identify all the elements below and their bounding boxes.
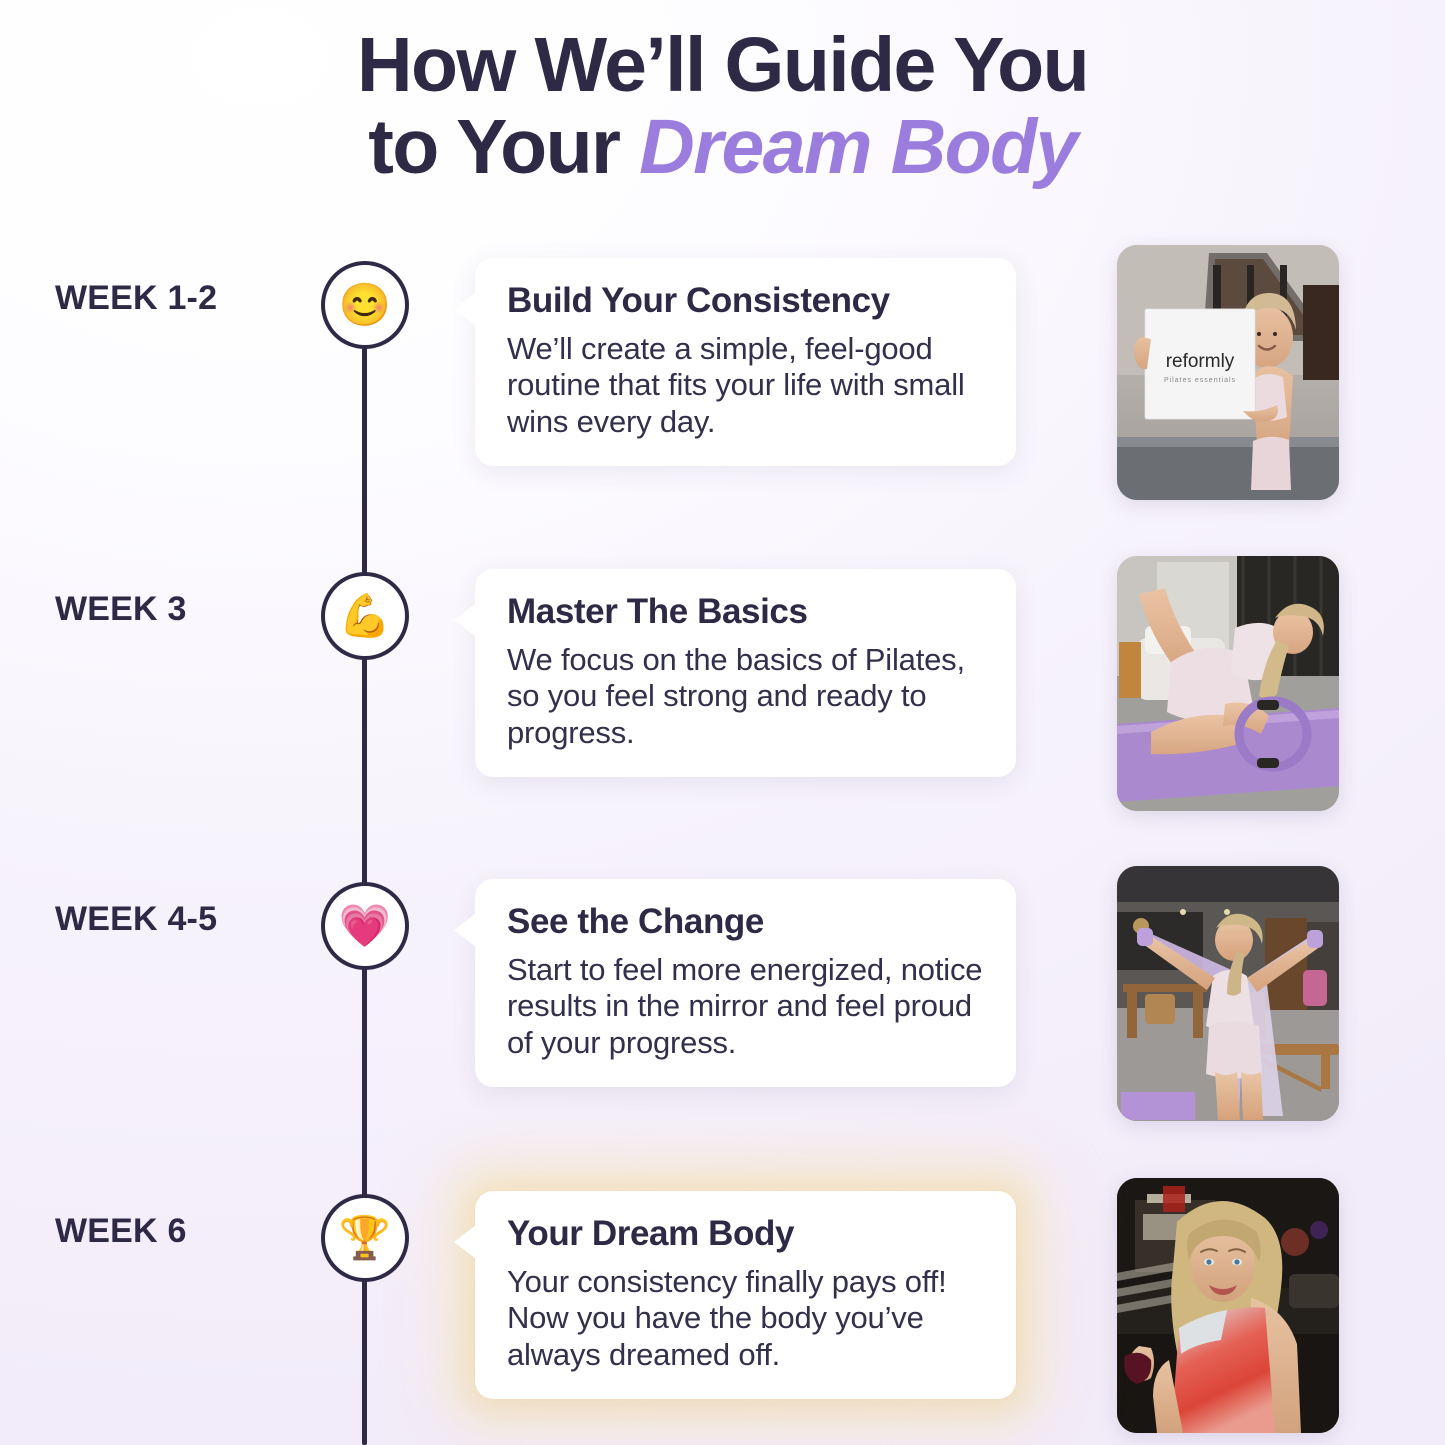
card-pointer-arrow: [454, 292, 476, 326]
card-pointer-arrow: [454, 603, 476, 637]
trophy-emoji-icon: 🏆: [321, 1194, 409, 1282]
step-card-title: See the Change: [507, 903, 984, 942]
week-label: WEEK 4-5: [55, 900, 335, 939]
step-card-body: We’ll create a simple, feel-good routine…: [507, 331, 984, 441]
week-label: WEEK 3: [55, 590, 335, 629]
smiling-face-with-smiling-eyes-emoji-icon: 😊: [321, 261, 409, 349]
step-card[interactable]: Your Dream Body Your consistency finally…: [475, 1191, 1016, 1399]
card-pointer-arrow: [454, 913, 476, 947]
woman-resistance-band-photo: [1117, 866, 1339, 1121]
step-card-title: Your Dream Body: [507, 1215, 984, 1254]
page-title-line-1: How We’ll Guide You: [0, 24, 1445, 106]
step-card-body: Start to feel more energized, notice res…: [507, 952, 984, 1062]
page-title-line-2-prefix: to Your: [368, 104, 639, 190]
woman-night-out-portrait-photo: [1117, 1178, 1339, 1433]
step-card[interactable]: Build Your Consistency We’ll create a si…: [475, 258, 1016, 466]
card-pointer-arrow: [454, 1225, 476, 1259]
page-title-accent: Dream Body: [639, 104, 1077, 190]
step-card[interactable]: Master The Basics We focus on the basics…: [475, 569, 1016, 777]
week-label: WEEK 6: [55, 1212, 335, 1251]
page-title: How We’ll Guide You to Your Dream Body: [0, 24, 1445, 189]
woman-holding-reformly-box-photo: reformly Pilates essentials: [1117, 245, 1339, 500]
page-title-line-2: to Your Dream Body: [0, 106, 1445, 188]
step-card[interactable]: See the Change Start to feel more energi…: [475, 879, 1016, 1087]
step-card-body: We focus on the basics of Pilates, so yo…: [507, 642, 984, 752]
flexed-biceps-emoji-icon: 💪: [321, 572, 409, 660]
week-label: WEEK 1-2: [55, 279, 335, 318]
step-card-title: Build Your Consistency: [507, 282, 984, 321]
step-card-title: Master The Basics: [507, 593, 984, 632]
woman-pilates-ring-on-mat-photo: [1117, 556, 1339, 811]
growing-heart-emoji-icon: 💗: [321, 882, 409, 970]
step-card-body: Your consistency finally pays off! Now y…: [507, 1264, 984, 1374]
